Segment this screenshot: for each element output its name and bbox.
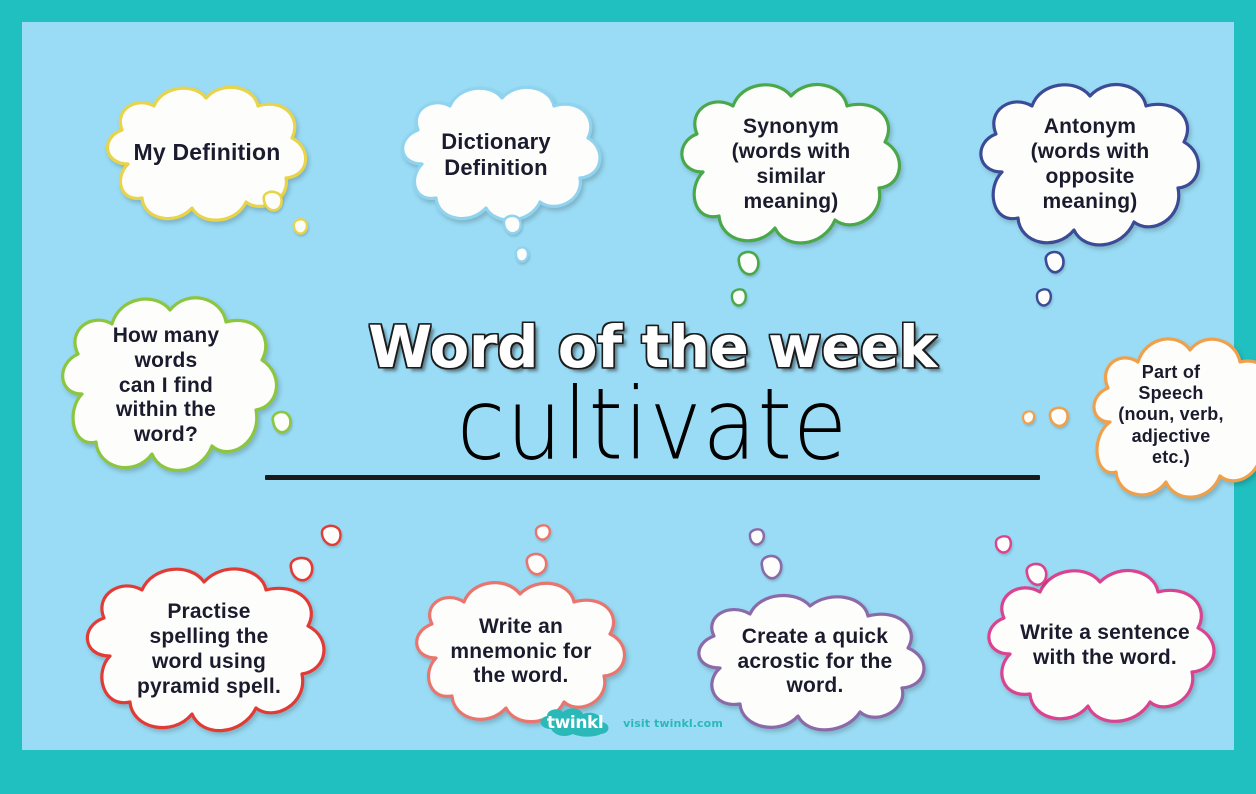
bubble-how-many-words[interactable]: How many words can I find within the wor… — [50, 278, 282, 494]
bubble-label: Part of Speech (noun, verb, adjective et… — [1112, 362, 1229, 468]
bubble-synonym[interactable]: Synonym (words with similar meaning) — [667, 74, 915, 256]
twinkl-visit-text: visit twinkl.com — [623, 717, 723, 730]
poster-root: My Definition Dictionary Definition — [0, 0, 1256, 794]
bubble-tail-large — [1046, 406, 1071, 427]
bubble-label: Create a quick acrostic for the word. — [732, 625, 899, 699]
bubble-tail-small — [746, 528, 766, 546]
bubble-tail-small — [532, 524, 552, 541]
bubble-tail-small — [728, 288, 748, 307]
poster-panel: My Definition Dictionary Definition — [22, 22, 1234, 750]
bubble-tail-large — [734, 250, 762, 276]
bubble-tail-large — [268, 410, 294, 434]
bubble-label: My Definition — [128, 139, 287, 166]
bubble-label: How many words can I find within the wor… — [107, 324, 226, 448]
heading-block: Word of the week cultivate — [265, 318, 1040, 480]
bubble-label: Dictionary Definition — [435, 129, 557, 181]
bubble-label: Write an mnemonic for the word. — [444, 615, 597, 689]
bubble-label: Synonym (words with similar meaning) — [726, 115, 857, 214]
twinkl-wordmark: twinkl — [547, 713, 604, 733]
bubble-tail-large — [522, 552, 550, 576]
bubble-dictionary-definition[interactable]: Dictionary Definition — [384, 80, 608, 230]
bubble-tail-large — [500, 214, 524, 235]
bubble-write-sentence[interactable]: Write a sentence with the word. — [974, 562, 1236, 730]
bubble-tail-small — [992, 535, 1014, 554]
word-of-the-week-value: cultivate — [265, 380, 1040, 471]
bubble-tail-large — [757, 554, 785, 580]
bubble-tail-small — [512, 246, 530, 263]
bubble-tail-large — [1022, 562, 1050, 587]
bubble-my-definition[interactable]: My Definition — [84, 78, 330, 228]
twinkl-footer: twinkl visit twinkl.com — [22, 706, 1234, 740]
bubble-antonym[interactable]: Antonym (words with opposite meaning) — [966, 72, 1214, 258]
bubble-tail-large — [286, 556, 316, 582]
bubble-tail-small — [318, 524, 344, 546]
bubble-tail-small — [1020, 410, 1036, 425]
bubble-tail-small — [1033, 288, 1053, 307]
bubble-tail-large — [1041, 250, 1067, 274]
twinkl-logo-icon: twinkl — [533, 708, 617, 738]
bubble-label: Antonym (words with opposite meaning) — [1025, 115, 1156, 214]
bubble-tail-large — [259, 190, 285, 212]
bubble-label: Write a sentence with the word. — [1014, 621, 1196, 671]
bubble-part-of-speech[interactable]: Part of Speech (noun, verb, adjective et… — [1086, 320, 1256, 510]
bubble-label: Practise spelling the word using pyramid… — [131, 600, 287, 699]
bubble-tail-small — [290, 218, 309, 235]
